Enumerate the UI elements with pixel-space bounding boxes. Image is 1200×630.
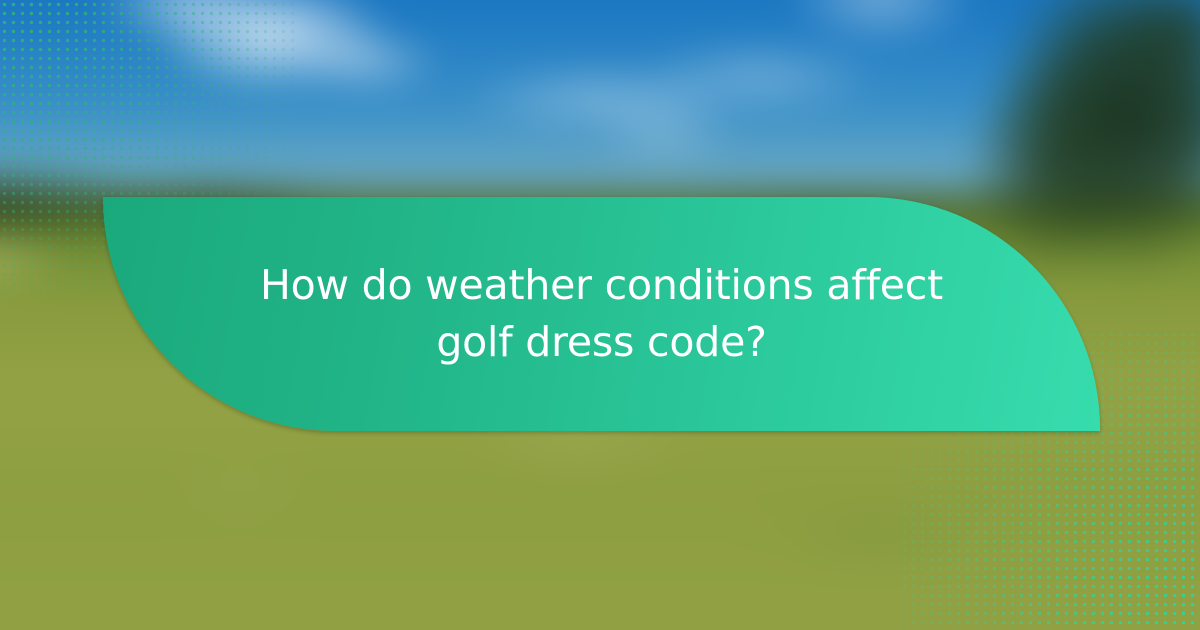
title-card: How do weather conditions affect golf dr… [103, 197, 1100, 431]
social-card-canvas: How do weather conditions affect golf dr… [0, 0, 1200, 630]
page-title: How do weather conditions affect golf dr… [221, 257, 982, 371]
